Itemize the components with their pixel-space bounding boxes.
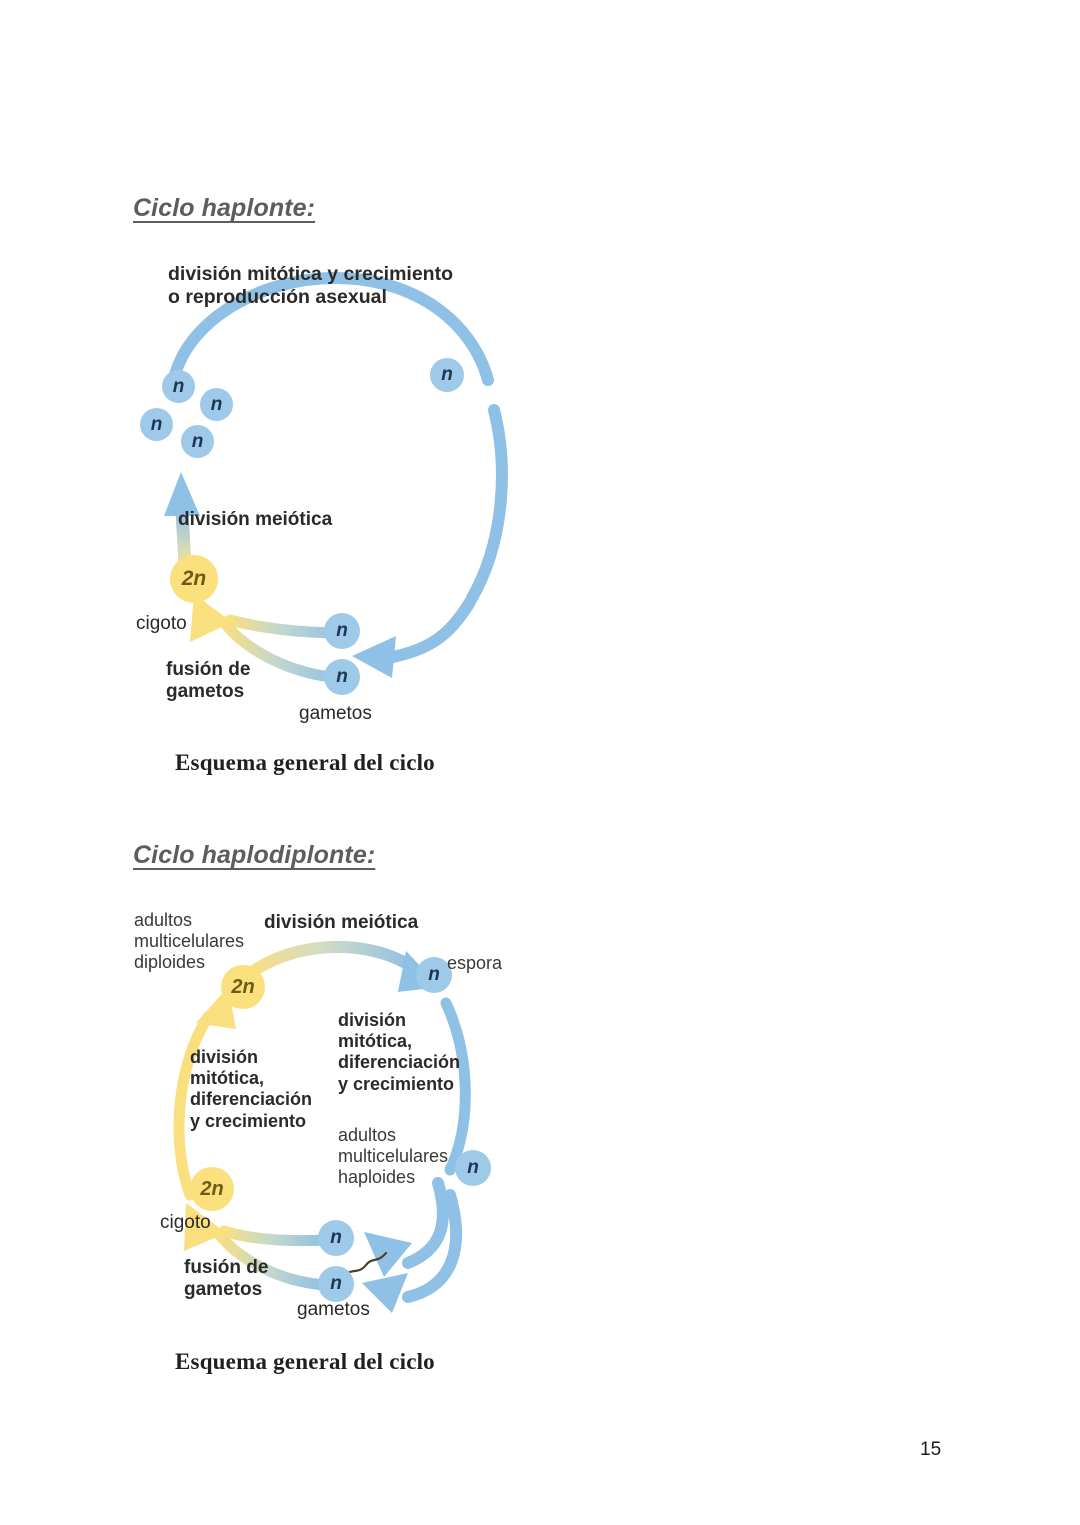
label-adultos-multicelulares-haploides: adultos multicelulares haploides xyxy=(338,1125,448,1189)
cell-haploid-arc: n xyxy=(430,358,464,392)
cell-haploid-cluster-1: n xyxy=(162,370,195,403)
cell-diploid-cigoto: 2n xyxy=(170,555,218,603)
arc-cycle-right xyxy=(472,410,502,598)
label-cigoto: cigoto xyxy=(136,613,187,635)
label-gametos: gametos xyxy=(297,1299,370,1321)
cell-haploid-adult: n xyxy=(455,1150,491,1186)
page-number: 15 xyxy=(920,1439,941,1461)
label-espora: espora xyxy=(447,953,502,974)
cell-label: n xyxy=(330,1273,342,1295)
arrow-to-gamete-upper-head xyxy=(364,1232,412,1277)
label-fusion-de-gametos: fusión de gametos xyxy=(166,659,250,704)
cell-haploid-cluster-4: n xyxy=(181,425,214,458)
cell-gamete-upper: n xyxy=(318,1220,354,1256)
cell-label: n xyxy=(151,414,163,436)
label-adultos-multicelulares-diploides: adultos multicelulares diploides xyxy=(134,910,244,974)
label-cigoto: cigoto xyxy=(160,1212,211,1234)
cell-gamete-lower: n xyxy=(318,1266,354,1302)
arrow-meiosis-shaft xyxy=(248,947,412,975)
cell-haploid-cluster-2: n xyxy=(200,388,233,421)
cell-label: n xyxy=(467,1157,479,1179)
cell-label: n xyxy=(192,431,204,453)
section-heading-ciclo-haplonte: Ciclo haplonte: xyxy=(133,194,315,223)
label-division-meiotica: división meiótica xyxy=(178,509,332,531)
section-heading-ciclo-haplodiplonte: Ciclo haplodiplonte: xyxy=(133,841,375,870)
label-gametos: gametos xyxy=(299,703,372,725)
document-page: Ciclo haplonte: xyxy=(0,0,1080,1525)
cell-label: n xyxy=(211,394,223,416)
cell-label: n xyxy=(336,666,348,688)
cell-label: n xyxy=(428,964,440,986)
cell-label: n xyxy=(173,376,185,398)
label-division-meiotica: división meiótica xyxy=(264,912,418,934)
cell-gamete-upper: n xyxy=(324,613,360,649)
label-mitosis-diferenciacion-right: división mitótica, diferenciación y crec… xyxy=(338,1010,460,1095)
cell-label: n xyxy=(336,620,348,642)
arrow-to-gametes-shaft xyxy=(388,602,470,658)
label-mitosis-diferenciacion-left: división mitótica, diferenciación y crec… xyxy=(190,1047,312,1132)
cell-label: n xyxy=(441,364,453,386)
cell-gamete-lower: n xyxy=(324,659,360,695)
label-fusion-de-gametos: fusión de gametos xyxy=(184,1257,268,1302)
caption-esquema-general-2: Esquema general del ciclo xyxy=(175,1349,435,1375)
label-mitosis-growth-asexual: división mitótica y crecimiento o reprod… xyxy=(168,263,453,309)
cell-label: 2n xyxy=(231,976,254,999)
arrow-to-gamete-upper-shaft xyxy=(408,1183,443,1263)
cell-haploid-cluster-3: n xyxy=(140,408,173,441)
arrow-fusion-upper xyxy=(224,1231,326,1241)
cell-diploid-cigoto: 2n xyxy=(190,1167,234,1211)
cell-label: 2n xyxy=(200,1178,223,1201)
cell-label: n xyxy=(330,1227,342,1249)
cell-label: 2n xyxy=(182,567,207,591)
caption-esquema-general-1: Esquema general del ciclo xyxy=(175,750,435,776)
